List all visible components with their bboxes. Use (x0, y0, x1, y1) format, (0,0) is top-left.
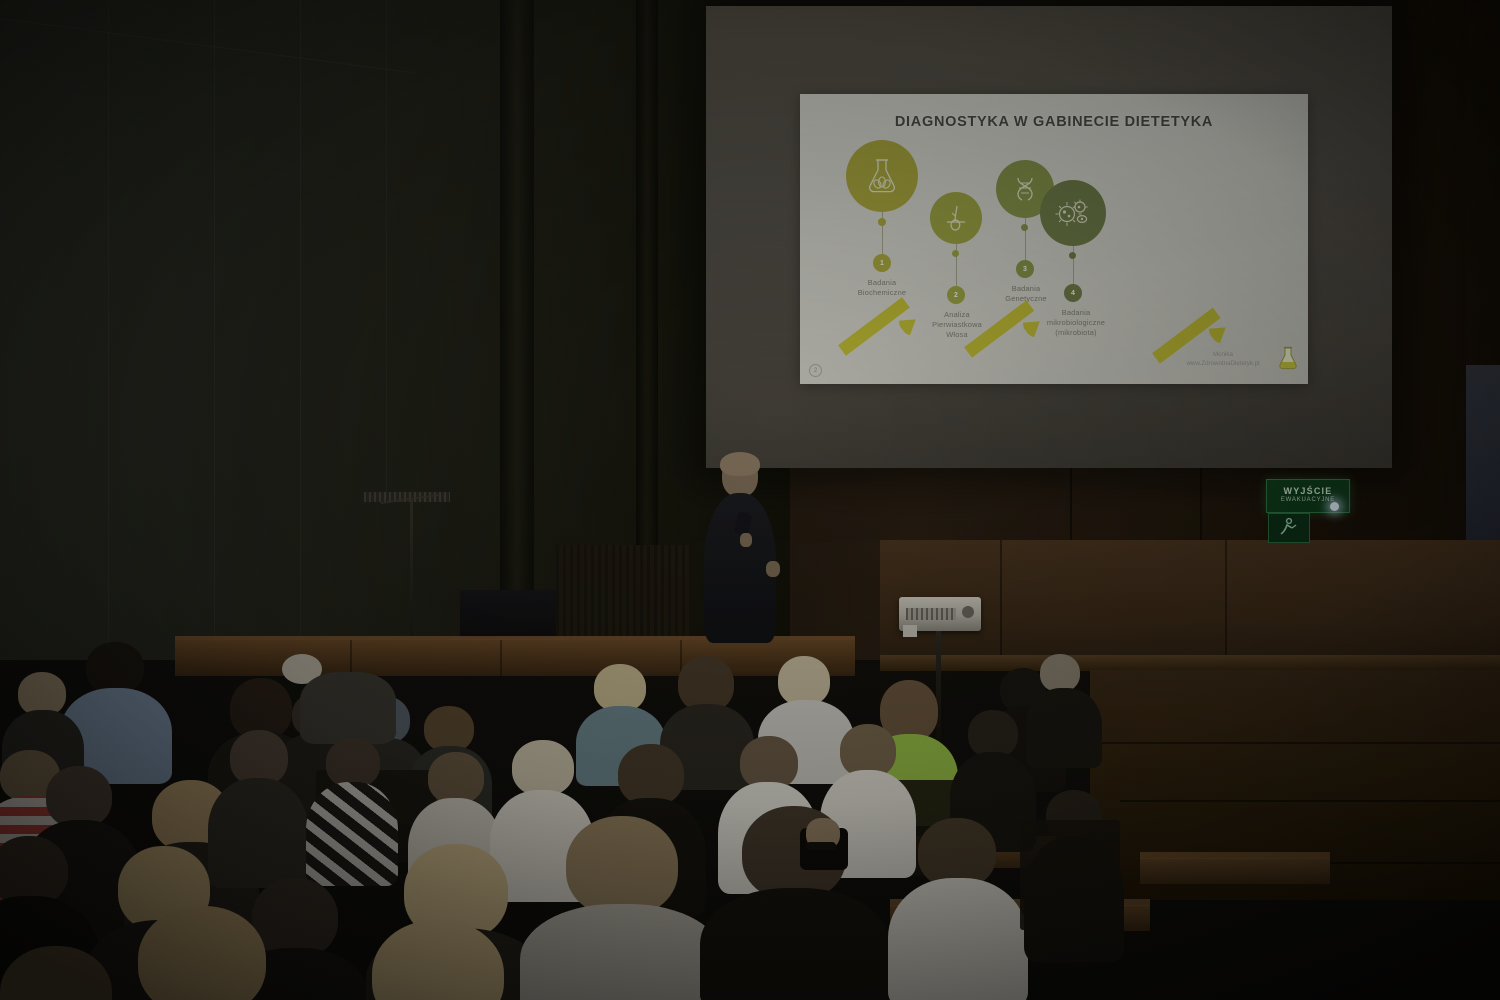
presenter-hand-right (766, 561, 780, 577)
number-badge-3: 3 (1016, 260, 1034, 278)
exit-sign-glare (1330, 502, 1339, 511)
slide-title: DIAGNOSTYKA W GABINECIE DIETETYKA (800, 114, 1308, 130)
connector-dot-2 (952, 250, 959, 257)
watermark-line2: www.ZdrowotnaDietetyk.pl (1168, 360, 1278, 369)
caption-1-line2: Biochemiczne (836, 288, 928, 298)
caption-3-line1: Badania (980, 284, 1072, 294)
projection-screen: DIAGNOSTYKA W GABINECIE DIETETYKA 1 Bada… (706, 6, 1392, 468)
flask-logo-icon (1278, 346, 1298, 370)
flask-icon (865, 157, 899, 195)
presenter-hair (720, 452, 760, 476)
caption-1-line1: Badania (836, 278, 928, 288)
exit-pictogram-icon (1268, 513, 1310, 543)
exit-sign-line2: EWAKUACYJNE (1281, 496, 1335, 504)
connector-dot-3 (1021, 224, 1028, 231)
microbes-icon (1054, 196, 1092, 230)
bubble-4-microbes (1040, 180, 1106, 246)
bubble-2-hair-follicle (930, 192, 982, 244)
presenter-hand-left (740, 533, 752, 547)
caption-2-line1: Analiza (910, 310, 1004, 320)
number-badge-4: 4 (1064, 284, 1082, 302)
projector-vent (906, 608, 956, 620)
connector-dot-4 (1069, 252, 1076, 259)
bench-top (1140, 852, 1330, 859)
watermark-line1: Monika (1168, 351, 1278, 360)
projector-lens (962, 606, 974, 618)
seated-audience (0, 620, 1500, 1000)
caption-4-line1: Badania (1026, 308, 1126, 318)
connector-dot-1 (878, 218, 886, 226)
chair-back (1020, 820, 1120, 930)
bubble-1-flask (846, 140, 918, 212)
number-badge-2: 2 (947, 286, 965, 304)
exit-sign-line1: WYJŚCIE (1284, 487, 1333, 496)
lecture-hall-photo: DIAGNOSTYKA W GABINECIE DIETETYKA 1 Bada… (0, 0, 1500, 1000)
presentation-slide: DIAGNOSTYKA W GABINECIE DIETETYKA 1 Bada… (800, 94, 1308, 384)
watermark: Monika www.ZdrowotnaDietetyk.pl (1168, 351, 1278, 368)
bench (1140, 858, 1330, 884)
hair-follicle-icon (943, 204, 969, 232)
dna-icon (1010, 174, 1040, 204)
wall-pillar (500, 0, 534, 660)
wrist-band (806, 842, 836, 850)
slide-number: 2 (809, 364, 822, 377)
number-badge-1: 1 (873, 254, 891, 272)
caption-1: Badania Biochemiczne (836, 278, 928, 298)
